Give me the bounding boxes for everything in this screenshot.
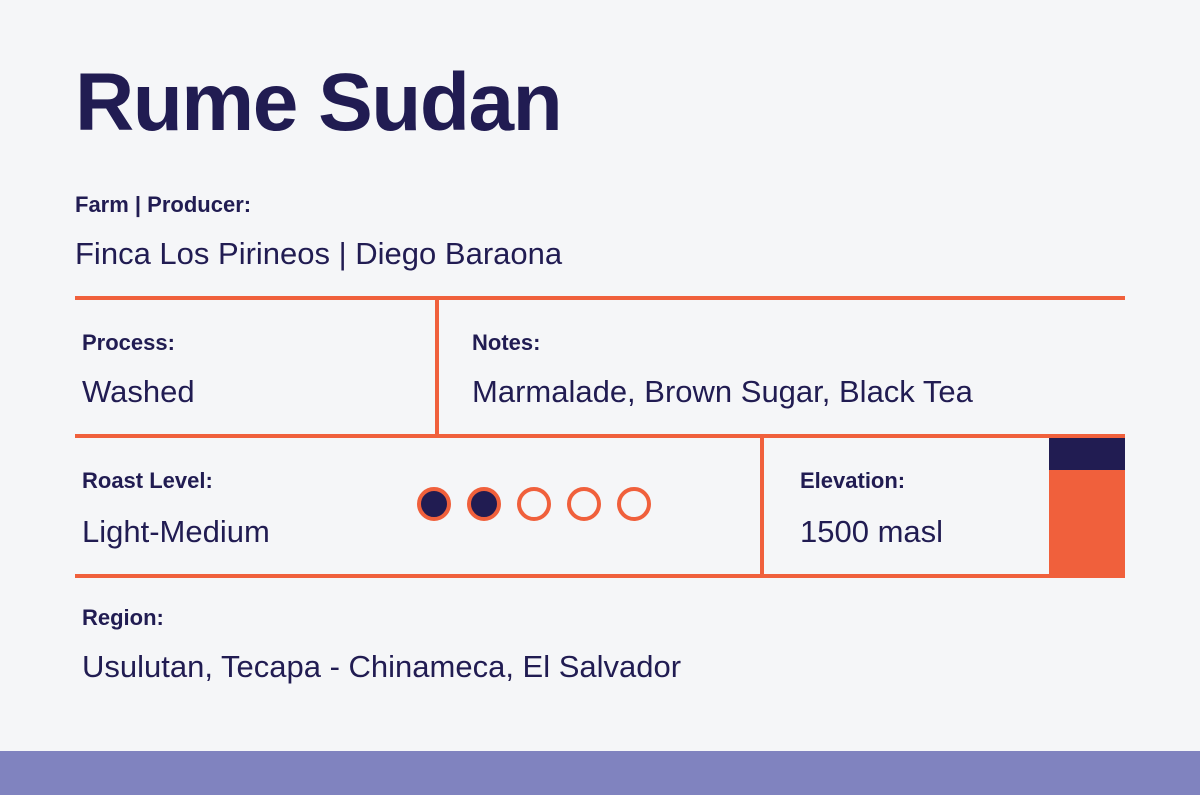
farm-producer-value: Finca Los Pirineos | Diego Baraona bbox=[75, 237, 562, 271]
process-field: Process: Washed bbox=[82, 331, 195, 409]
farm-producer-field: Farm | Producer: Finca Los Pirineos | Di… bbox=[75, 193, 562, 271]
divider-rule-bottom bbox=[75, 574, 1125, 578]
divider-roast-elevation bbox=[760, 434, 764, 578]
roast-level-label: Roast Level: bbox=[82, 469, 270, 493]
region-value: Usulutan, Tecapa - Chinameca, El Salvado… bbox=[82, 650, 681, 684]
coffee-label-card: Rume Sudan Farm | Producer: Finca Los Pi… bbox=[0, 0, 1200, 751]
page-title: Rume Sudan bbox=[75, 62, 561, 144]
farm-producer-label: Farm | Producer: bbox=[75, 193, 562, 217]
swatch-orange-block bbox=[1049, 470, 1125, 578]
process-label: Process: bbox=[82, 331, 195, 355]
divider-process-notes bbox=[435, 296, 439, 438]
notes-label: Notes: bbox=[472, 331, 973, 355]
elevation-field: Elevation: 1500 masl bbox=[800, 469, 943, 549]
roast-level-field: Roast Level: Light-Medium bbox=[82, 469, 270, 549]
divider-rule-top bbox=[75, 296, 1125, 300]
region-label: Region: bbox=[82, 606, 681, 630]
roast-dot-1 bbox=[417, 487, 451, 521]
roast-dot-3 bbox=[517, 487, 551, 521]
decorative-color-swatch bbox=[1049, 438, 1125, 578]
elevation-label: Elevation: bbox=[800, 469, 943, 493]
region-field: Region: Usulutan, Tecapa - Chinameca, El… bbox=[82, 606, 681, 684]
roast-dot-4 bbox=[567, 487, 601, 521]
roast-dot-2 bbox=[467, 487, 501, 521]
swatch-navy-block bbox=[1049, 438, 1125, 470]
roast-level-value: Light-Medium bbox=[82, 515, 270, 549]
roast-dot-5 bbox=[617, 487, 651, 521]
elevation-value: 1500 masl bbox=[800, 515, 943, 549]
roast-level-scale bbox=[417, 487, 651, 521]
bottom-accent-bar bbox=[0, 751, 1200, 795]
notes-value: Marmalade, Brown Sugar, Black Tea bbox=[472, 375, 973, 409]
notes-field: Notes: Marmalade, Brown Sugar, Black Tea bbox=[472, 331, 973, 409]
process-value: Washed bbox=[82, 375, 195, 409]
divider-rule-middle bbox=[75, 434, 1125, 438]
